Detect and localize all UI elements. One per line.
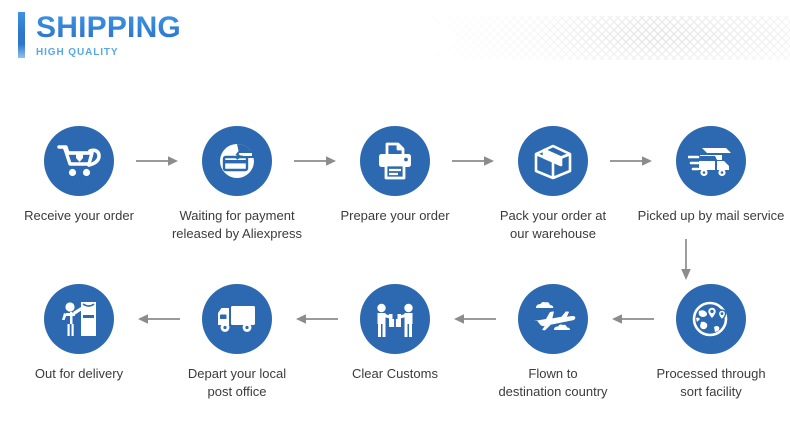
step-icon-circle	[360, 126, 430, 196]
crosshatch-ribbon-banner-icon	[430, 14, 790, 62]
arrow-down-icon	[672, 238, 700, 282]
step-label: Out for delivery	[3, 365, 155, 383]
step-label: Receive your order	[3, 207, 155, 225]
delivery-person-door-icon	[57, 298, 101, 340]
step-receive-order[interactable]: Receive your order	[0, 126, 158, 243]
page-subtitle: HIGH QUALITY	[36, 46, 181, 59]
arrow-left-icon	[293, 312, 339, 326]
step-label: Depart your local post office	[161, 365, 313, 401]
step-out-for-delivery[interactable]: Out for delivery	[0, 284, 158, 401]
step-label: Picked up by mail service	[635, 207, 787, 225]
step-icon-circle	[202, 284, 272, 354]
step-label: Pack your order at our warehouse	[477, 207, 629, 243]
step-sort-facility[interactable]: Processed through sort facility	[632, 284, 790, 401]
customs-workers-box-icon	[373, 299, 417, 339]
globe-pins-icon	[690, 298, 732, 340]
shopping-cart-icon	[57, 141, 101, 181]
step-picked-up[interactable]: Picked up by mail service	[632, 126, 790, 243]
arrow-left-icon	[451, 312, 497, 326]
flow-row-1: Receive your order	[0, 126, 790, 243]
step-icon-circle	[676, 126, 746, 196]
page-title: SHIPPING	[36, 12, 181, 43]
step-icon-circle	[360, 284, 430, 354]
step-label: Clear Customs	[319, 365, 471, 383]
arrow-left-icon	[609, 312, 655, 326]
vertical-gradient-bar-icon	[18, 12, 25, 58]
step-label: Flown to destination country	[477, 365, 629, 401]
header: SHIPPING HIGH QUALITY	[0, 0, 790, 80]
delivery-truck-icon	[214, 302, 260, 336]
flow-row-2: Out for delivery	[0, 284, 790, 401]
step-prepare-order[interactable]: Prepare your order	[316, 126, 474, 243]
step-icon-circle	[44, 284, 114, 354]
step-icon-circle	[518, 126, 588, 196]
logo: SHIPPING HIGH QUALITY	[18, 12, 181, 59]
step-clear-customs[interactable]: Clear Customs	[316, 284, 474, 401]
airplane-clouds-icon	[530, 300, 576, 338]
step-icon-circle	[518, 284, 588, 354]
step-icon-circle	[202, 126, 272, 196]
arrow-left-icon	[135, 312, 181, 326]
step-label: Waiting for payment released by Aliexpre…	[161, 207, 313, 243]
step-waiting-payment[interactable]: Waiting for payment released by Aliexpre…	[158, 126, 316, 243]
packed-box-icon	[531, 141, 575, 181]
step-label: Prepare your order	[319, 207, 471, 225]
step-depart-post-office[interactable]: Depart your local post office	[158, 284, 316, 401]
step-label: Processed through sort facility	[635, 365, 787, 401]
payment-card-hand-icon	[215, 141, 259, 181]
step-pack-order[interactable]: Pack your order at our warehouse	[474, 126, 632, 243]
step-flown-destination[interactable]: Flown to destination country	[474, 284, 632, 401]
step-icon-circle	[44, 126, 114, 196]
step-icon-circle	[676, 284, 746, 354]
shipping-infographic: SHIPPING HIGH QUALITY	[0, 0, 790, 445]
mail-truck-icon	[688, 142, 734, 180]
printer-icon	[374, 140, 416, 182]
